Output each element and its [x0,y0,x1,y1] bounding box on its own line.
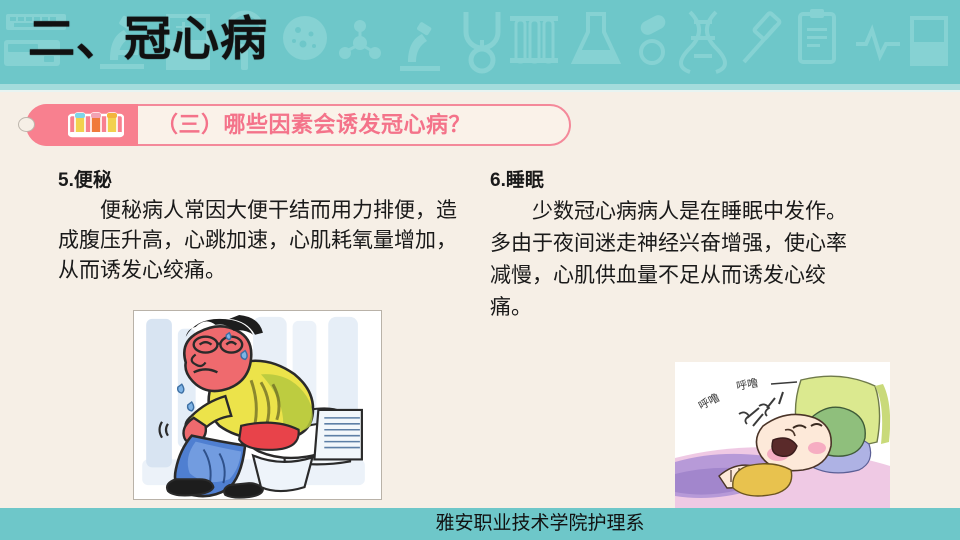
section-banner-label: （三）哪些因素会诱发冠心病？ [156,104,471,146]
sleeping-illustration: 呼噜 呼噜 [675,362,890,508]
footer-text: 雅安职业技术学院护理系 [0,508,960,540]
column-body-5: 便秘病人常因大便干结而用力排便，造成腹压升高，心跳加速，心肌耗氧量增加，从而诱发… [58,196,468,286]
page-title: 二、冠心病 [28,6,268,72]
column-heading-6: 6.睡眠 [490,168,850,194]
test-tube-rack-icon [68,112,124,139]
slide-canvas: 二、冠心病 （三）哪些因素会诱发冠心病？ 5.便秘 便秘病人常因大便干结而用力排… [0,0,960,540]
section-banner: （三）哪些因素会诱发冠心病？ [26,104,571,146]
constipation-illustration [133,310,382,500]
column-constipation: 5.便秘 便秘病人常因大便干结而用力排便，造成腹压升高，心跳加速，心肌耗氧量增加… [58,168,468,286]
banner-punch-hole-icon [18,117,35,132]
column-heading-5: 5.便秘 [58,168,468,194]
column-sleep: 6.睡眠 少数冠心病病人是在睡眠中发作。多由于夜间迷走神经兴奋增强，使心率减慢，… [490,168,850,324]
column-body-6: 少数冠心病病人是在睡眠中发作。多由于夜间迷走神经兴奋增强，使心率减慢，心肌供血量… [490,196,850,324]
